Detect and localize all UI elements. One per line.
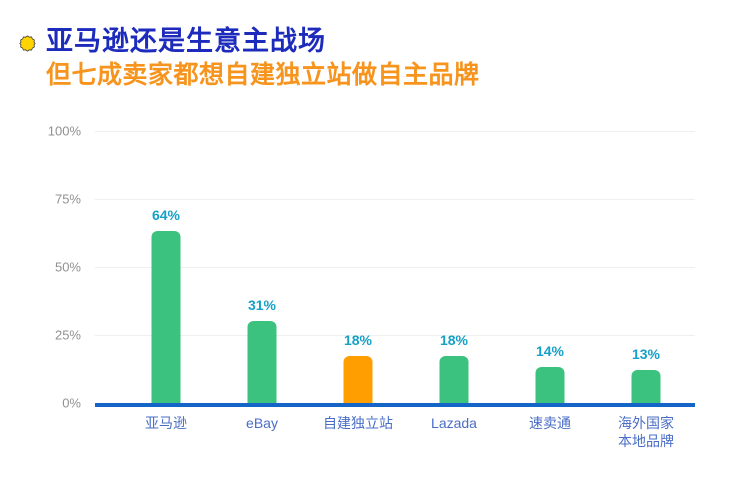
bar-group-1: 31% [214,130,310,405]
page-subtitle: 但七成卖家都想自建独立站做自主品牌 [46,60,480,91]
bar-5[interactable] [632,370,661,405]
bar-value-label-5: 13% [632,346,660,362]
bar-1[interactable] [248,321,277,405]
x-axis-label-2: 自建独立站 [303,414,413,432]
x-axis-label-3: Lazada [399,414,509,432]
bar-0[interactable] [152,231,181,405]
x-axis-line [95,403,695,407]
x-axis-label-5: 海外国家 本地品牌 [591,414,701,450]
x-axis-label-4: 速卖通 [495,414,605,432]
y-tick-label-0: 0% [0,396,81,411]
bar-value-label-2: 18% [344,332,372,348]
bar-4[interactable] [536,367,565,405]
bar-value-label-1: 31% [248,297,276,313]
y-tick-label-25: 25% [0,328,81,343]
bar-2[interactable] [344,356,373,405]
bar-group-0: 64% [118,130,214,405]
chart-header: 亚马逊还是生意主战场 但七成卖家都想自建独立站做自主品牌 [0,0,734,106]
bar-group-2: 18% [310,130,406,405]
bar-group-4: 14% [502,130,598,405]
bar-value-label-3: 18% [440,332,468,348]
x-axis-label-0: 亚马逊 [111,414,221,432]
x-axis-label-1: eBay [207,414,317,432]
bar-group-5: 13% [598,130,694,405]
bar-3[interactable] [440,356,469,405]
y-tick-label-75: 75% [0,192,81,207]
page-title: 亚马逊还是生意主战场 [46,25,326,57]
bar-value-label-4: 14% [536,343,564,359]
bar-value-label-0: 64% [152,207,180,223]
bar-group-3: 18% [406,130,502,405]
y-tick-label-50: 50% [0,260,81,275]
gear-badge-icon [19,35,36,52]
y-tick-label-100: 100% [0,124,81,139]
